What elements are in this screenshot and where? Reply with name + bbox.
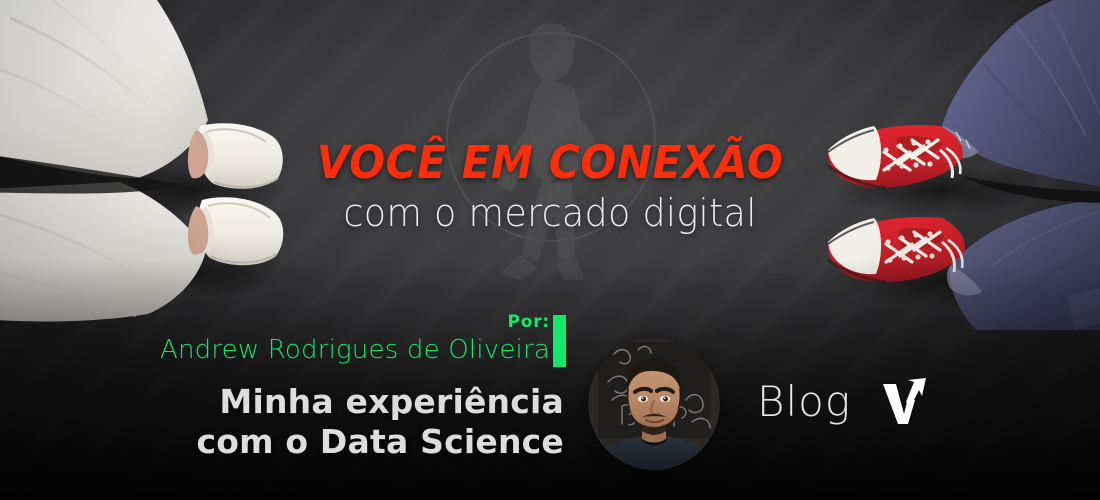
page-title: VOCÊ EM CONEXÃO bbox=[33, 138, 1067, 188]
article-title-line-1: Minha experiência bbox=[0, 382, 564, 422]
article-title: Minha experiência com o Data Science bbox=[0, 382, 570, 462]
byline-label: Por: bbox=[0, 312, 550, 332]
promo-banner: VOCÊ EM CONEXÃO com o mercado digital Po… bbox=[0, 0, 1100, 500]
green-accent-bar bbox=[553, 315, 566, 367]
headline-block: VOCÊ EM CONEXÃO com o mercado digital bbox=[0, 138, 1100, 236]
author-avatar bbox=[588, 338, 720, 470]
blog-label: Blog bbox=[757, 378, 851, 426]
v-arrow-logo-icon bbox=[878, 376, 932, 430]
v-arrow-logo bbox=[878, 376, 932, 430]
page-subtitle: com o mercado digital bbox=[22, 190, 1078, 236]
byline: Por: Andrew Rodrigues de Oliveira bbox=[0, 312, 570, 365]
article-title-line-2: com o Data Science bbox=[0, 422, 564, 462]
byline-author-name: Andrew Rodrigues de Oliveira bbox=[0, 335, 550, 365]
avatar-photo bbox=[588, 338, 720, 470]
